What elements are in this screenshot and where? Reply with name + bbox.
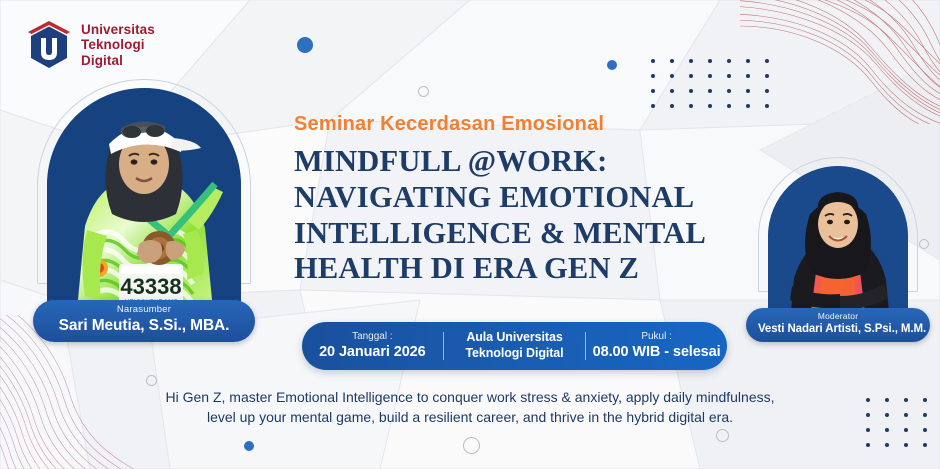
decor-ring-bottom-center (463, 437, 480, 454)
logo-line-3: Digital (81, 53, 155, 68)
seminar-eyebrow: Seminar Kecerdasan Emosional (294, 112, 764, 136)
info-venue-line-1: Aula Universitas (450, 330, 579, 346)
speaker-name-badge-moderator: Moderator Vesti Nadari Artisti, S.Psi., … (746, 308, 930, 342)
title-line-4: HEALTH DI ERA GEN Z (294, 251, 764, 287)
info-time: Pukul : 08.00 WIB - selesai (586, 331, 727, 362)
event-description: Hi Gen Z, master Emotional Intelligence … (100, 388, 840, 428)
hexagon-u-logo-icon (26, 20, 72, 70)
speaker-name-narasumber: Sari Meutia, S.Si., MBA. (49, 316, 239, 335)
speaker-card-moderator: Moderator Vesti Nadari Artisti, S.Psi., … (768, 166, 908, 314)
logo-wordmark: Universitas Teknologi Digital (81, 22, 155, 67)
title-line-1: MINDFULL @WORK: (294, 144, 764, 180)
decor-ring-right (919, 239, 929, 249)
seminar-title: MINDFULL @WORK: NAVIGATING EMOTIONAL INT… (294, 144, 764, 287)
speaker-card-narasumber: 43338 MELBOURNE 2025 (47, 88, 241, 310)
speaker-role-narasumber: Narasumber (49, 305, 239, 315)
speaker-photo-moderator (768, 166, 908, 314)
speaker-name-moderator: Vesti Nadari Artisti, S.Psi., M.M. (758, 322, 918, 336)
info-date-value: 20 Januari 2026 (308, 343, 437, 361)
info-venue: Aula Universitas Teknologi Digital (444, 330, 585, 361)
dot-grid-bottom-right (866, 398, 940, 447)
speaker-name-badge-narasumber: Narasumber Sari Meutia, S.Si., MBA. (33, 300, 255, 342)
speaker-role-moderator: Moderator (758, 312, 918, 321)
description-line-1: Hi Gen Z, master Emotional Intelligence … (100, 388, 840, 408)
seminar-banner: Universitas Teknologi Digital (0, 0, 940, 469)
title-line-2: NAVIGATING EMOTIONAL (294, 180, 764, 216)
decor-dot-blue-bottom-left (244, 441, 254, 451)
decor-dot-blue-upper-right (607, 60, 617, 70)
info-date-label: Tanggal : (308, 331, 437, 344)
decor-ring-left-lower (146, 375, 157, 386)
description-line-2: level up your mental game, build a resil… (100, 408, 840, 428)
decor-ring-top (418, 86, 429, 97)
university-logo: Universitas Teknologi Digital (26, 20, 155, 70)
info-time-value: 08.00 WIB - selesai (592, 343, 721, 361)
info-date: Tanggal : 20 Januari 2026 (302, 331, 443, 362)
logo-line-2: Teknologi (81, 37, 155, 52)
speaker-photo-narasumber: 43338 MELBOURNE 2025 (47, 88, 241, 310)
svg-text:43338: 43338 (120, 274, 181, 299)
logo-line-1: Universitas (81, 22, 155, 37)
info-time-label: Pukul : (592, 331, 721, 344)
headline-block: Seminar Kecerdasan Emosional MINDFULL @W… (294, 112, 764, 287)
wave-lines-top-right-icon (740, 0, 940, 124)
info-venue-line-2: Teknologi Digital (450, 346, 579, 362)
title-line-3: INTELLIGENCE & MENTAL (294, 216, 764, 252)
decor-ring-bottom-right (716, 429, 729, 442)
event-info-bar: Tanggal : 20 Januari 2026 Aula Universit… (302, 322, 727, 370)
dot-grid-top-right (651, 59, 769, 108)
decor-dot-blue-top (297, 37, 313, 53)
